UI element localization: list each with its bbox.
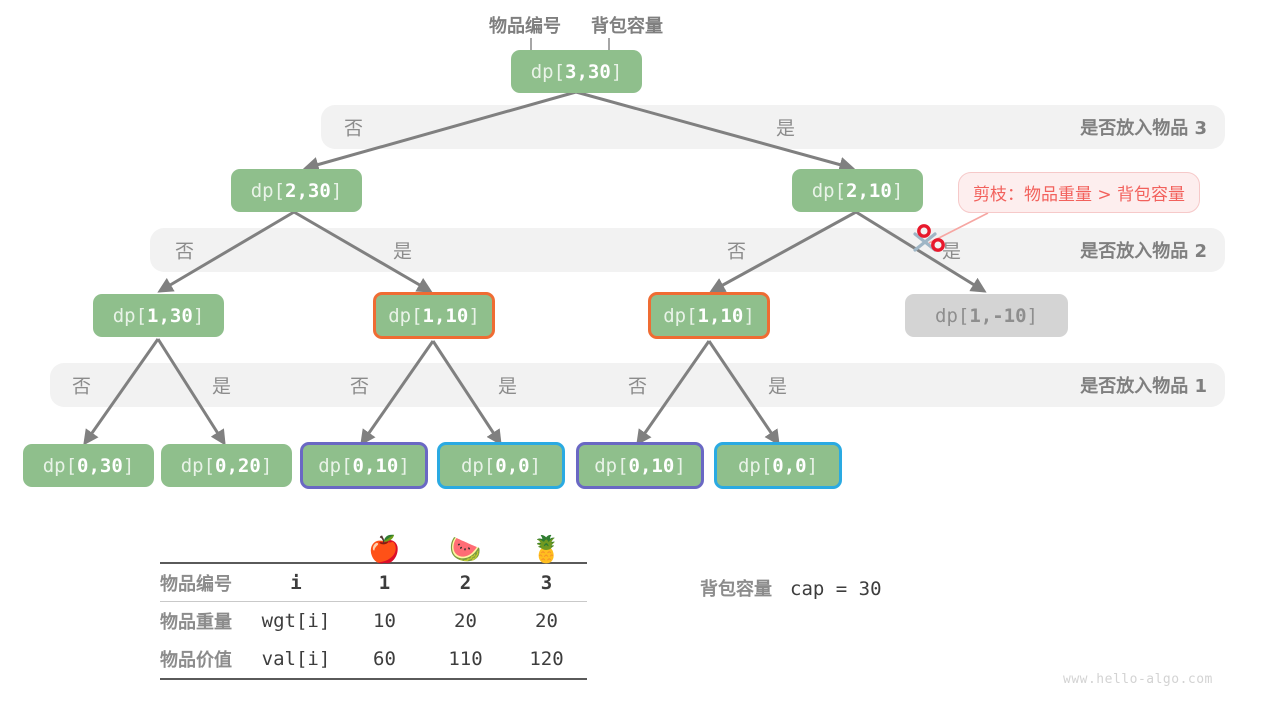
row-head-item-index: 物品编号 xyxy=(160,563,248,602)
node-text-args: 2,10 xyxy=(846,180,892,202)
cell-index-2: 2 xyxy=(425,563,506,602)
cell-wgt-2: 20 xyxy=(425,602,506,641)
node-text-suffix: ] xyxy=(807,455,818,477)
watermelon-icon: 🍉 xyxy=(425,520,506,563)
table-row-value: 物品价值 val[i] 60 110 120 xyxy=(160,640,587,679)
node-text-prefix: dp[ xyxy=(663,305,697,327)
node-text-prefix: dp[ xyxy=(388,305,422,327)
band2-label: 是否放入物品 2 xyxy=(1080,237,1207,263)
node-text-suffix: ] xyxy=(123,455,134,477)
band1-label: 是否放入物品 1 xyxy=(1080,372,1207,398)
node-dp-2-10[interactable]: dp[2,10] xyxy=(792,169,923,212)
node-dp-0-20[interactable]: dp[0,20] xyxy=(161,444,292,487)
node-text-prefix: dp[ xyxy=(812,180,846,202)
node-dp-0-10-a[interactable]: dp[0,10] xyxy=(300,442,428,489)
node-text-prefix: dp[ xyxy=(738,455,772,477)
node-text-prefix: dp[ xyxy=(43,455,77,477)
pineapple-icon: 🍍 xyxy=(506,520,587,563)
node-dp-0-10-b[interactable]: dp[0,10] xyxy=(576,442,704,489)
node-text-prefix: dp[ xyxy=(594,455,628,477)
node-dp-0-0-b[interactable]: dp[0,0] xyxy=(714,442,842,489)
node-dp-2-30[interactable]: dp[2,30] xyxy=(231,169,362,212)
node-text-args: 2,30 xyxy=(285,180,331,202)
node-text-args: 1,30 xyxy=(147,305,193,327)
node-text-args: 1,-10 xyxy=(969,305,1026,327)
band3-label: 是否放入物品 3 xyxy=(1080,114,1207,140)
row-key-val: val[i] xyxy=(248,640,344,679)
node-text-args: 3,30 xyxy=(565,61,611,83)
node-dp-1-30[interactable]: dp[1,30] xyxy=(93,294,224,337)
node-dp-1-neg10-pruned[interactable]: dp[1,-10] xyxy=(905,294,1068,337)
band1-choice-yes-1: 是 xyxy=(212,372,231,399)
node-dp-3-30[interactable]: dp[3,30] xyxy=(511,50,642,93)
capacity-label: 背包容量 xyxy=(700,579,772,600)
node-text-suffix: ] xyxy=(743,305,754,327)
node-text-args: 0,30 xyxy=(77,455,123,477)
table-row-fruits: 🍎 🍉 🍍 xyxy=(160,520,587,563)
row-key-i: i xyxy=(248,563,344,602)
node-text-suffix: ] xyxy=(530,455,541,477)
node-text-args: 1,10 xyxy=(698,305,744,327)
node-text-prefix: dp[ xyxy=(113,305,147,327)
node-text-suffix: ] xyxy=(468,305,479,327)
node-dp-0-0-a[interactable]: dp[0,0] xyxy=(437,442,565,489)
node-text-args: 0,0 xyxy=(495,455,529,477)
band-item-2: 否 是 否 是 是否放入物品 2 xyxy=(150,228,1225,272)
node-text-suffix: ] xyxy=(892,180,903,202)
cell-index-3: 3 xyxy=(506,563,587,602)
node-text-args: 0,20 xyxy=(215,455,261,477)
node-text-suffix: ] xyxy=(611,61,622,83)
capacity-annotation: 背包容量cap = 30 xyxy=(700,575,882,601)
node-text-prefix: dp[ xyxy=(531,61,565,83)
node-text-prefix: dp[ xyxy=(251,180,285,202)
cell-val-1: 60 xyxy=(344,640,425,679)
node-text-suffix: ] xyxy=(398,455,409,477)
capacity-value: cap = 30 xyxy=(790,578,882,600)
band-item-3: 否 是 是否放入物品 3 xyxy=(321,105,1225,149)
node-text-args: 0,10 xyxy=(629,455,675,477)
node-text-args: 0,10 xyxy=(353,455,399,477)
node-dp-0-30[interactable]: dp[0,30] xyxy=(23,444,154,487)
node-dp-1-10-right[interactable]: dp[1,10] xyxy=(648,292,770,339)
node-text-prefix: dp[ xyxy=(318,455,352,477)
node-text-args: 1,10 xyxy=(423,305,469,327)
band3-choice-no: 否 xyxy=(344,114,363,141)
node-text-suffix: ] xyxy=(193,305,204,327)
band1-choice-no-1: 否 xyxy=(72,372,91,399)
watermark: www.hello-algo.com xyxy=(1063,672,1213,687)
band1-choice-yes-3: 是 xyxy=(768,372,787,399)
node-text-suffix: ] xyxy=(674,455,685,477)
apple-icon: 🍎 xyxy=(344,520,425,563)
node-text-prefix: dp[ xyxy=(461,455,495,477)
bag-capacity-annotation: 背包容量 xyxy=(591,12,663,38)
row-head-value: 物品价值 xyxy=(160,640,248,679)
band1-choice-yes-2: 是 xyxy=(498,372,517,399)
band2-choice-yes-1: 是 xyxy=(393,237,412,264)
table-row-index: 物品编号 i 1 2 3 xyxy=(160,563,587,602)
band2-choice-no-1: 否 xyxy=(175,237,194,264)
row-key-wgt: wgt[i] xyxy=(248,602,344,641)
node-dp-1-10-left[interactable]: dp[1,10] xyxy=(373,292,495,339)
band3-choice-yes: 是 xyxy=(776,114,795,141)
item-index-annotation: 物品编号 xyxy=(489,12,561,38)
cell-wgt-3: 20 xyxy=(506,602,587,641)
cell-val-2: 110 xyxy=(425,640,506,679)
prune-callout: 剪枝：物品重量 > 背包容量 xyxy=(958,172,1200,213)
band1-choice-no-3: 否 xyxy=(628,372,647,399)
band1-choice-no-2: 否 xyxy=(350,372,369,399)
diagram-canvas: 物品编号 背包容量 否 是 是否放入物品 3 否 是 否 是 是否放入物品 2 … xyxy=(0,0,1280,720)
node-text-prefix: dp[ xyxy=(181,455,215,477)
band2-choice-yes-2: 是 xyxy=(942,237,961,264)
node-text-suffix: ] xyxy=(261,455,272,477)
band2-choice-no-2: 否 xyxy=(727,237,746,264)
node-text-args: 0,0 xyxy=(772,455,806,477)
cell-wgt-1: 10 xyxy=(344,602,425,641)
table-row-weight: 物品重量 wgt[i] 10 20 20 xyxy=(160,602,587,641)
band-item-1: 否 是 否 是 否 是 是否放入物品 1 xyxy=(50,363,1225,407)
cell-val-3: 120 xyxy=(506,640,587,679)
items-table: 🍎 🍉 🍍 物品编号 i 1 2 3 物品重量 wgt[i] 10 20 20 … xyxy=(160,520,587,680)
cell-index-1: 1 xyxy=(344,563,425,602)
row-head-weight: 物品重量 xyxy=(160,602,248,641)
node-text-suffix: ] xyxy=(331,180,342,202)
node-text-suffix: ] xyxy=(1027,305,1038,327)
node-text-prefix: dp[ xyxy=(935,305,969,327)
